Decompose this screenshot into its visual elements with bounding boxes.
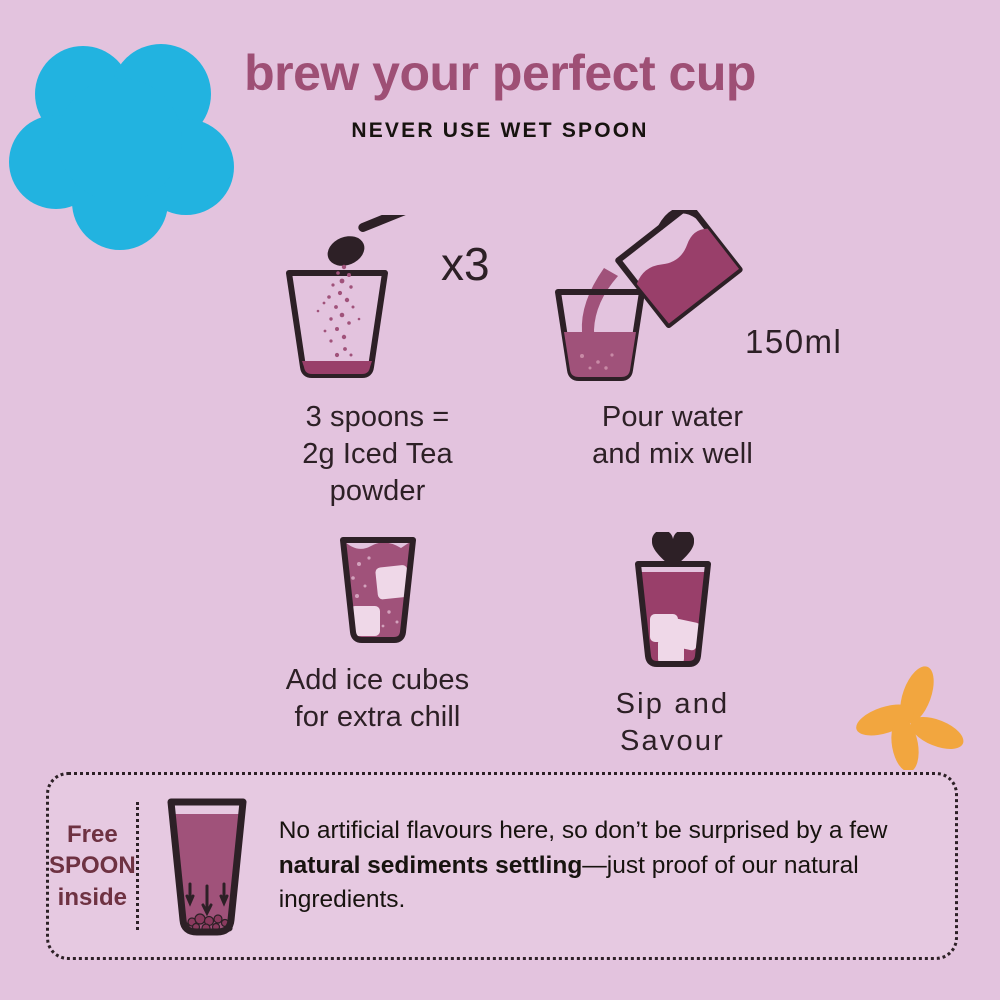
step-sip-art xyxy=(618,572,728,672)
step-spoon-caption: 3 spoons = 2g Iced Tea powder xyxy=(302,399,453,510)
caption-line: powder xyxy=(302,473,453,510)
caption-line: Add ice cubes xyxy=(286,662,469,699)
note-glass xyxy=(139,792,269,940)
note-body-before: No artificial flavours here, so don’t be… xyxy=(279,817,888,844)
step-pour-caption: Pour water and mix well xyxy=(592,399,753,473)
steps-grid: x3 3 spoons = 2g Iced Tea powder xyxy=(230,215,820,761)
page-subtitle: NEVER USE WET SPOON xyxy=(0,119,1000,143)
caption-line: Pour water xyxy=(592,399,753,436)
sediment-note-box: Free SPOON inside No artificial flavours… xyxy=(46,772,958,960)
free-spoon-line: inside xyxy=(49,882,136,913)
glass-with-ice-cubes-icon xyxy=(323,530,433,648)
step-sip: Sip and Savour xyxy=(525,528,820,760)
free-spoon-line: Free xyxy=(49,819,136,850)
step-spoon-art: x3 xyxy=(245,215,510,385)
step-sip-caption: Sip and Savour xyxy=(616,686,730,760)
header: brew your perfect cup NEVER USE WET SPOO… xyxy=(0,0,1000,143)
caption-line: 3 spoons = xyxy=(302,399,453,436)
step-ice: Add ice cubes for extra chill xyxy=(230,528,525,760)
step-ice-caption: Add ice cubes for extra chill xyxy=(286,662,469,736)
step-pour: 150ml Pour water and mix well xyxy=(525,215,820,510)
step-pour-art: 150ml xyxy=(540,215,805,385)
steps-row-2: Add ice cubes for extra chill Sip and xyxy=(230,528,820,760)
note-body-bold: natural sediments settling xyxy=(279,852,583,879)
free-spoon-label: Free SPOON inside xyxy=(49,819,136,913)
step-spoon: x3 3 spoons = 2g Iced Tea powder xyxy=(230,215,525,510)
caption-line: 2g Iced Tea xyxy=(302,436,453,473)
full-glass-with-ice-icon xyxy=(618,554,728,672)
glass-with-sediment-icon xyxy=(161,792,253,940)
step-pour-badge: 150ml xyxy=(745,323,842,361)
page-title: brew your perfect cup xyxy=(0,46,1000,101)
caption-line: Sip and xyxy=(616,686,730,723)
steps-row-1: x3 3 spoons = 2g Iced Tea powder xyxy=(230,215,820,510)
caption-line: for extra chill xyxy=(286,699,469,736)
step-ice-art xyxy=(323,528,433,648)
orange-flower-icon xyxy=(855,665,965,770)
note-body-text: No artificial flavours here, so don’t be… xyxy=(269,814,955,918)
free-spoon-line: SPOON xyxy=(49,850,136,881)
caption-line: and mix well xyxy=(592,436,753,473)
caption-line: Savour xyxy=(616,723,730,760)
step-spoon-badge: x3 xyxy=(441,237,490,291)
